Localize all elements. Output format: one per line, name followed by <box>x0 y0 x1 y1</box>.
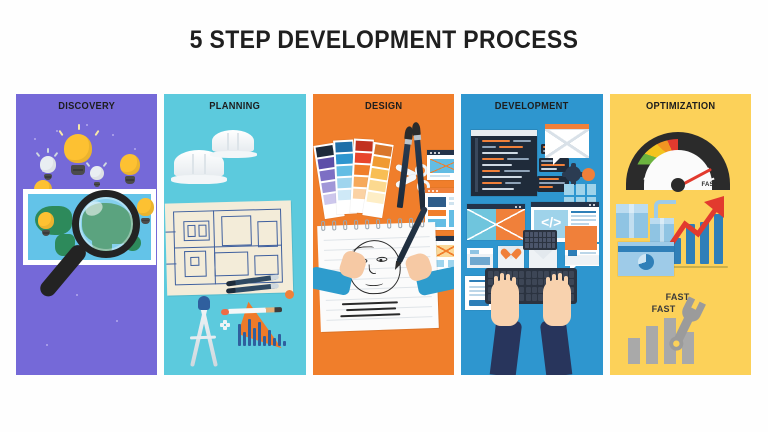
step-panel-design[interactable]: DESIGN <box>313 94 454 375</box>
sticky-note-icon <box>565 226 597 250</box>
pie-chart-icon <box>638 254 654 270</box>
lightbulb-icon <box>38 212 54 235</box>
color-swatch-icon <box>319 136 391 221</box>
lightbulb-icon <box>64 134 92 174</box>
step-label-development: DEVELOPMENT <box>466 101 598 112</box>
step-panel-planning[interactable]: PLANNING <box>164 94 305 375</box>
heart-icon <box>505 247 517 258</box>
lightbulb-icon <box>90 166 104 186</box>
design-illustration <box>313 94 454 375</box>
gear-icon <box>582 168 595 181</box>
fast-label: FAST <box>652 304 676 314</box>
step-label-optimization: OPTIMIZATION <box>615 101 747 112</box>
infographic-canvas: 5 STEP DEVELOPMENT PROCESS DISCOVERY <box>0 0 768 432</box>
hard-hat-icon <box>212 130 254 158</box>
box-icon <box>616 204 648 238</box>
steps-container: DISCOVERY <box>16 94 751 375</box>
speech-bubble-icon <box>545 124 589 158</box>
dot-marker <box>285 290 294 299</box>
asterisk-icon <box>220 320 230 330</box>
growth-arrow-icon <box>668 194 730 256</box>
discovery-illustration <box>16 94 157 375</box>
step-panel-development[interactable]: DEVELOPMENT <box>461 94 602 375</box>
step-label-design: DESIGN <box>318 101 450 112</box>
page-title: 5 STEP DEVELOPMENT PROCESS <box>31 26 738 55</box>
compass-divider-icon <box>182 294 224 368</box>
fast-label: FAST <box>666 292 690 302</box>
browser-window-icon <box>467 204 525 240</box>
speedometer-gauge-icon: FAST <box>626 132 730 190</box>
code-tag-icon: </> <box>537 214 565 230</box>
lightbulb-icon <box>40 156 56 179</box>
bar-chart-icon <box>238 316 288 346</box>
gear-icon <box>565 166 581 182</box>
calculator-icon <box>467 248 493 268</box>
gauge-label: FAST <box>701 182 717 188</box>
step-label-planning: PLANNING <box>169 101 301 112</box>
code-editor-icon <box>471 130 537 196</box>
step-panel-discovery[interactable]: DISCOVERY <box>16 94 157 375</box>
envelope-icon <box>545 129 589 158</box>
step-label-discovery: DISCOVERY <box>21 101 153 112</box>
development-illustration: </> <box>461 94 602 375</box>
keyboard-icon <box>523 230 557 250</box>
step-panel-optimization[interactable]: OPTIMIZATION <box>610 94 751 375</box>
optimization-illustration: FAST <box>610 94 751 375</box>
credit-card-icon <box>618 242 674 276</box>
wireframe-icon <box>427 150 454 180</box>
lightbulb-icon <box>120 154 140 183</box>
document-icon <box>565 256 599 264</box>
envelope-icon <box>498 246 524 268</box>
planning-illustration <box>164 94 305 375</box>
